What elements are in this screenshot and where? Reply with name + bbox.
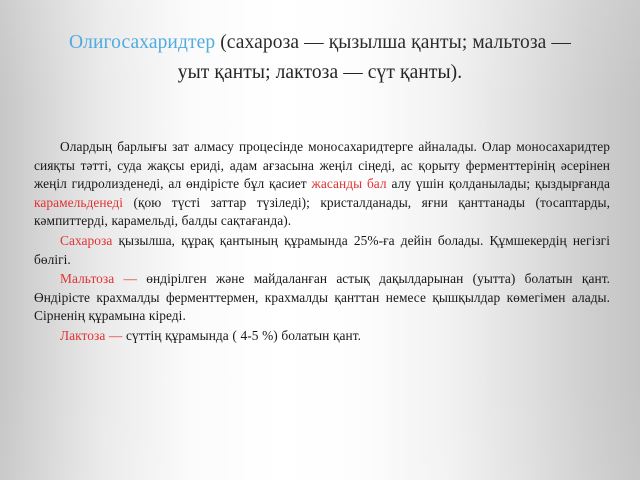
text-segment-maltose-0: Мальтоза — <box>60 271 137 286</box>
paragraph-lactose: Лактоза — сүттің құрамында ( 4-5 %) бола… <box>34 327 610 346</box>
paragraph-sucrose: Сахароза қызылша, құрақ қантының құрамын… <box>34 232 610 269</box>
text-segment-lactose-1: сүттің құрамында ( 4-5 %) болатын қант. <box>122 328 361 343</box>
slide-canvas: Олигосахаридтер (сахароза — қызылша қант… <box>0 0 640 480</box>
slide-body: Олардың барлығы зат алмасу процесінде мо… <box>34 138 610 346</box>
text-segment-lactose-0: Лактоза — <box>60 328 122 343</box>
paragraph-intro: Олардың барлығы зат алмасу процесінде мо… <box>34 138 610 231</box>
text-segment-sucrose-1: қызылша, құрақ қантының құрамында 25%-ға… <box>34 233 610 267</box>
title-accent-term: Олигосахаридтер <box>69 32 215 53</box>
slide-title: Олигосахаридтер (сахароза — қызылша қант… <box>60 28 580 88</box>
text-segment-intro-3: карамельденеді <box>34 195 123 210</box>
text-segment-sucrose-0: Сахароза <box>60 233 112 248</box>
text-segment-intro-2: алу үшін қолданылады; қыздырғанда <box>387 176 610 191</box>
paragraph-maltose: Мальтоза — өндірілген және майдаланған а… <box>34 270 610 326</box>
title-remainder: (сахароза — қызылша қанты; мальтоза — уы… <box>178 32 571 83</box>
text-segment-intro-1: жасанды бал <box>312 176 387 191</box>
